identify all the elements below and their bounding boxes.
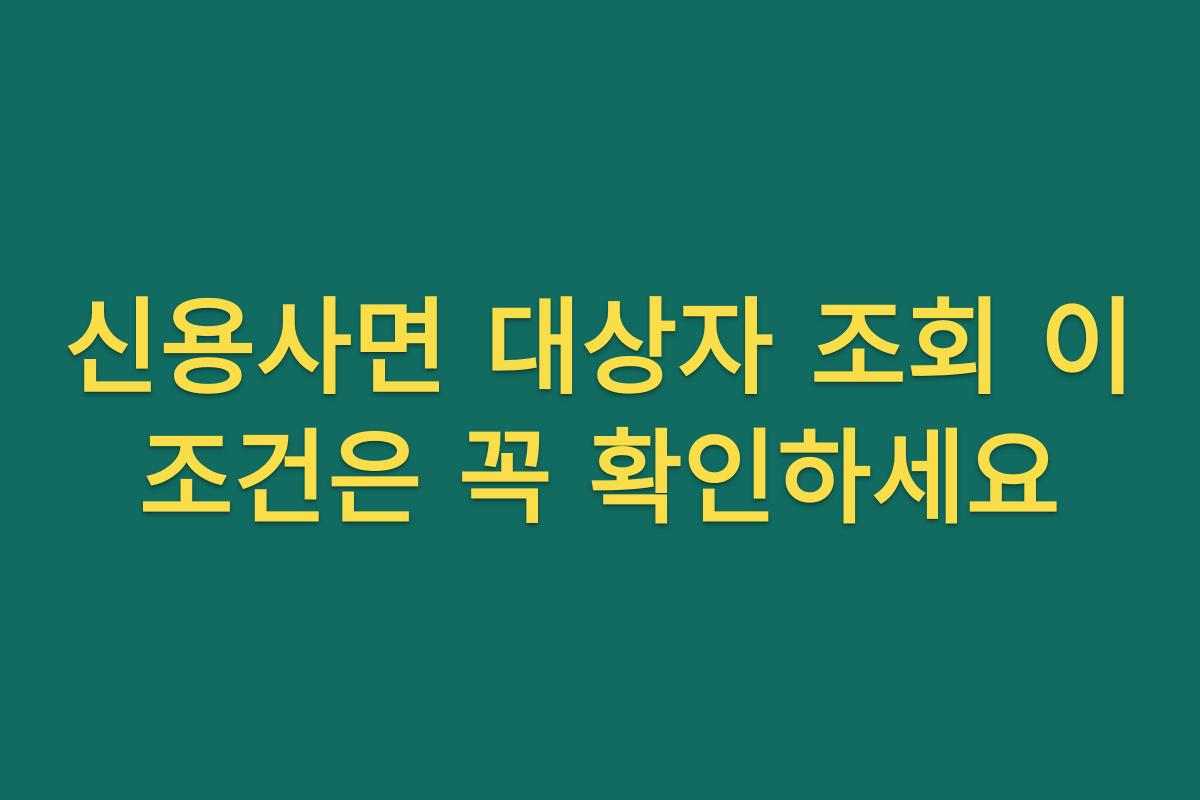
headline-line-1: 신용사면 대상자 조회 이 [0, 285, 1200, 412]
banner-canvas: 신용사면 대상자 조회 이 조건은 꼭 확인하세요 [0, 0, 1200, 800]
headline-line-2: 조건은 꼭 확인하세요 [0, 418, 1200, 542]
headline-block: 신용사면 대상자 조회 이 조건은 꼭 확인하세요 [0, 285, 1200, 542]
